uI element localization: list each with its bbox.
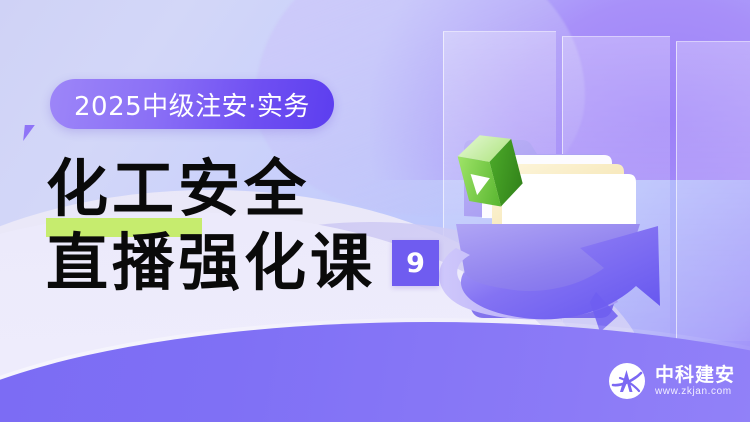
- subject-pill: 2025中级注安·实务: [50, 79, 334, 129]
- logo-text-group: 中科建安 www.zkjan.com: [655, 366, 735, 397]
- document-tab-slot: [594, 182, 628, 190]
- headline-line-2: 直播强化课: [46, 226, 376, 300]
- illustration-svg: [404, 96, 704, 336]
- subject-pill-tail: [23, 125, 45, 141]
- headline-line-1: 化工安全: [46, 152, 439, 226]
- subject-pill-label: 2025中级注安·实务: [74, 86, 310, 123]
- headline-block: 化工安全 直播强化课 9: [46, 152, 439, 300]
- episode-badge: 9: [392, 240, 439, 286]
- logo-brand-name: 中科建安: [655, 366, 735, 385]
- zkjan-circle-mark-icon: [608, 362, 646, 400]
- headline-line-2-row: 直播强化课 9: [46, 226, 439, 300]
- course-illustration: [404, 96, 704, 336]
- logo-website-url: www.zkjan.com: [655, 387, 735, 397]
- episode-badge-number: 9: [406, 248, 425, 279]
- course-banner: 2025中级注安·实务 化工安全 直播强化课 9 中科建安 www.zkjan.…: [0, 0, 750, 422]
- brand-logo-lockup: 中科建安 www.zkjan.com: [608, 362, 735, 400]
